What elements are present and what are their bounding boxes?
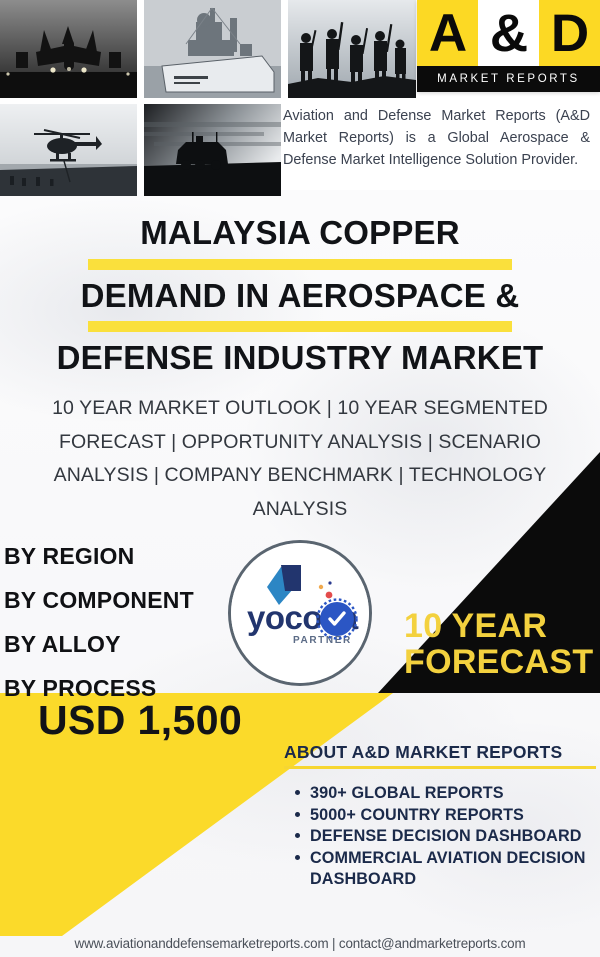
about-heading: ABOUT A&D MARKET REPORTS	[284, 742, 600, 763]
title-line-3: DEFENSE INDUSTRY MARKET	[0, 341, 600, 375]
navy-warship-photo	[144, 0, 281, 98]
about-item-global-reports: 390+ GLOBAL REPORTS	[310, 783, 600, 804]
about-item-defense-dashboard: DEFENSE DECISION DASHBOARD	[310, 826, 600, 847]
segment-by-alloy: BY ALLOY	[4, 633, 194, 656]
about-item-commercial-aviation-dashboard: COMMERCIAL AVIATION DECISION DASHBOARD	[310, 848, 600, 889]
about-item-country-reports: 5000+ COUNTRY REPORTS	[310, 805, 600, 826]
logo-letter-d: D	[551, 7, 588, 60]
segment-by-region: BY REGION	[4, 545, 194, 568]
logo-letter-a: A	[429, 7, 466, 60]
forecast-line-2: FORECAST	[404, 644, 600, 680]
svg-text:PARTNER: PARTNER	[293, 635, 352, 646]
segmentation-list: BY REGION BY COMPONENT BY ALLOY BY PROCE…	[4, 545, 194, 721]
segment-by-component: BY COMPONENT	[4, 589, 194, 612]
logo-tagline: MARKET REPORTS	[437, 73, 580, 85]
title-divider-2	[88, 321, 512, 332]
title-line-2: DEMAND IN AEROSPACE &	[0, 279, 600, 313]
ad-market-reports-logo[interactable]: A & D MARKET REPORTS	[417, 0, 600, 92]
about-underline	[284, 766, 596, 769]
military-helicopter-photo	[0, 104, 137, 196]
price-label: USD 1,500	[38, 700, 242, 741]
armored-vehicle-photo	[144, 104, 281, 196]
report-poster: A & D MARKET REPORTS Aviation and Defens…	[0, 0, 600, 957]
logo-letter-ampersand: &	[490, 7, 527, 60]
soldiers-silhouette-photo	[288, 0, 416, 98]
forecast-line-1: 10 YEAR	[404, 608, 600, 644]
footer-contact[interactable]: www.aviationanddefensemarketreports.com …	[0, 930, 600, 957]
title-line-1: MALAYSIA COPPER	[0, 212, 600, 250]
logo-block-d: D	[539, 0, 600, 66]
logo-block-a: A	[417, 0, 478, 66]
report-title: MALAYSIA COPPER DEMAND IN AEROSPACE & DE…	[0, 212, 600, 375]
logo-letter-blocks: A & D	[417, 0, 600, 66]
company-description: Aviation and Defense Market Reports (A&D…	[283, 106, 590, 172]
report-subtitle: 10 YEAR MARKET OUTLOOK | 10 YEAR SEGMENT…	[52, 392, 548, 526]
logo-tagline-bar: MARKET REPORTS	[417, 66, 600, 92]
fighter-jet-photo	[0, 0, 137, 98]
logo-block-ampersand: &	[478, 0, 539, 66]
about-bullet-list: 390+ GLOBAL REPORTS 5000+ COUNTRY REPORT…	[284, 783, 600, 890]
title-divider-1	[88, 259, 512, 270]
forecast-callout: 10 YEAR FORECAST	[404, 608, 600, 681]
yocova-partner-badge[interactable]: yocova PARTNER	[228, 540, 372, 686]
yocova-logo-icon: yocova PARTNER	[231, 543, 369, 683]
about-panel: ABOUT A&D MARKET REPORTS 390+ GLOBAL REP…	[284, 742, 600, 891]
